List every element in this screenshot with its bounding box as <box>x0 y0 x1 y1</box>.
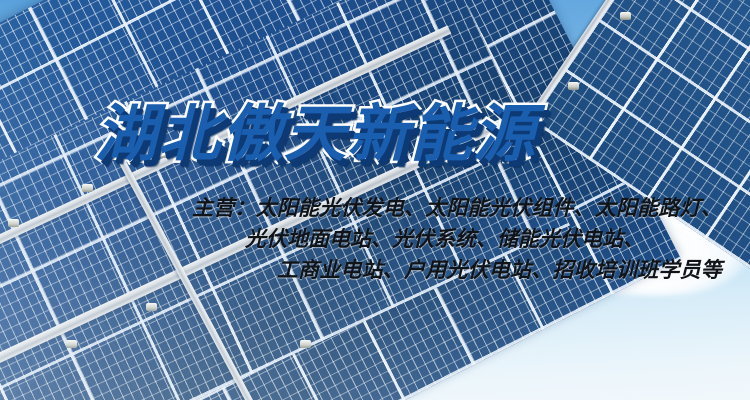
business-scope-line-1: 主营：太阳能光伏发电、太阳能光伏组件、太阳能路灯、 <box>122 193 722 224</box>
business-scope-line-2: 光伏地面电站、光伏系统、储能光伏电站、 <box>122 224 722 255</box>
business-scope-text: 主营：太阳能光伏发电、太阳能光伏组件、太阳能路灯、 光伏地面电站、光伏系统、储能… <box>122 193 722 286</box>
banner-content: 湖北傲天新能源 主营：太阳能光伏发电、太阳能光伏组件、太阳能路灯、 光伏地面电站… <box>0 0 750 400</box>
business-scope-line-3: 工商业电站、户用光伏电站、招收培训班学员等 <box>122 255 722 286</box>
company-title: 湖北傲天新能源 <box>95 104 536 166</box>
solar-company-banner: 湖北傲天新能源 主营：太阳能光伏发电、太阳能光伏组件、太阳能路灯、 光伏地面电站… <box>0 0 750 400</box>
